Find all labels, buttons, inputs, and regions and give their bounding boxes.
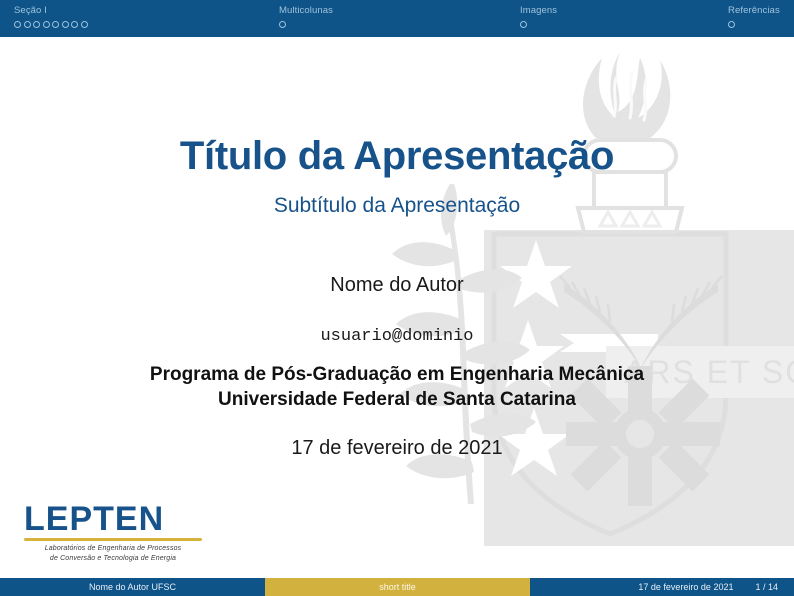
lepten-tagline-line1: Laboratórios de Engenharia de Processos bbox=[24, 544, 202, 554]
page-title: Título da Apresentação bbox=[0, 134, 794, 179]
nav-dot[interactable] bbox=[62, 21, 69, 28]
nav-dot[interactable] bbox=[43, 21, 50, 28]
nav-dot[interactable] bbox=[520, 21, 527, 28]
nav-section-label: Referências bbox=[728, 5, 794, 17]
nav-section-imagens[interactable]: Imagens bbox=[506, 0, 714, 37]
slide-content: Título da Apresentação Subtítulo da Apre… bbox=[0, 39, 794, 576]
nav-section-dots[interactable] bbox=[520, 21, 714, 28]
footer-page-number: 1 / 14 bbox=[755, 582, 778, 592]
lepten-tagline: Laboratórios de Engenharia de Processos … bbox=[24, 544, 202, 563]
nav-section-dots[interactable] bbox=[728, 21, 794, 28]
lepten-gold-rule bbox=[24, 538, 202, 541]
slide-footer: Nome do Autor UFSC short title 17 de fev… bbox=[0, 578, 794, 596]
nav-section-referencias[interactable]: Referências bbox=[714, 0, 794, 37]
lepten-tagline-line2: de Conversão e Tecnologia de Energia bbox=[24, 554, 202, 564]
navigation-bar: Seção I Multicolunas Imagens bbox=[0, 0, 794, 37]
institute-university: Universidade Federal de Santa Catarina bbox=[0, 387, 794, 412]
nav-section-multicolunas[interactable]: Multicolunas bbox=[265, 0, 506, 37]
nav-dot[interactable] bbox=[24, 21, 31, 28]
lepten-logo: LEPTEN Laboratórios de Engenharia de Pro… bbox=[24, 502, 234, 563]
institute-block: Programa de Pós-Graduação em Engenharia … bbox=[0, 362, 794, 412]
nav-section-label: Imagens bbox=[520, 5, 714, 17]
author-email: usuario@dominio bbox=[0, 327, 794, 346]
nav-dot[interactable] bbox=[279, 21, 286, 28]
footer-date: 17 de fevereiro de 2021 bbox=[638, 582, 733, 592]
nav-section-label: Seção I bbox=[14, 5, 265, 17]
nav-dot[interactable] bbox=[14, 21, 21, 28]
footer-author: Nome do Autor UFSC bbox=[0, 578, 265, 596]
nav-dot[interactable] bbox=[71, 21, 78, 28]
presentation-date: 17 de fevereiro de 2021 bbox=[0, 437, 794, 460]
nav-dot[interactable] bbox=[52, 21, 59, 28]
nav-dot[interactable] bbox=[728, 21, 735, 28]
nav-dot[interactable] bbox=[33, 21, 40, 28]
nav-section-dots[interactable] bbox=[14, 21, 265, 28]
nav-section-dots[interactable] bbox=[279, 21, 506, 28]
footer-short-title: short title bbox=[265, 578, 530, 596]
nav-dot[interactable] bbox=[81, 21, 88, 28]
nav-section-label: Multicolunas bbox=[279, 5, 506, 17]
author-name: Nome do Autor bbox=[0, 274, 794, 297]
footer-right: 17 de fevereiro de 2021 1 / 14 bbox=[530, 578, 794, 596]
lepten-wordmark: LEPTEN bbox=[24, 502, 234, 536]
nav-section-secao-i[interactable]: Seção I bbox=[0, 0, 265, 37]
presentation-slide: Seção I Multicolunas Imagens bbox=[0, 0, 794, 596]
navbar-separator bbox=[0, 37, 794, 39]
page-subtitle: Subtítulo da Apresentação bbox=[0, 194, 794, 218]
institute-program: Programa de Pós-Graduação em Engenharia … bbox=[0, 362, 794, 387]
